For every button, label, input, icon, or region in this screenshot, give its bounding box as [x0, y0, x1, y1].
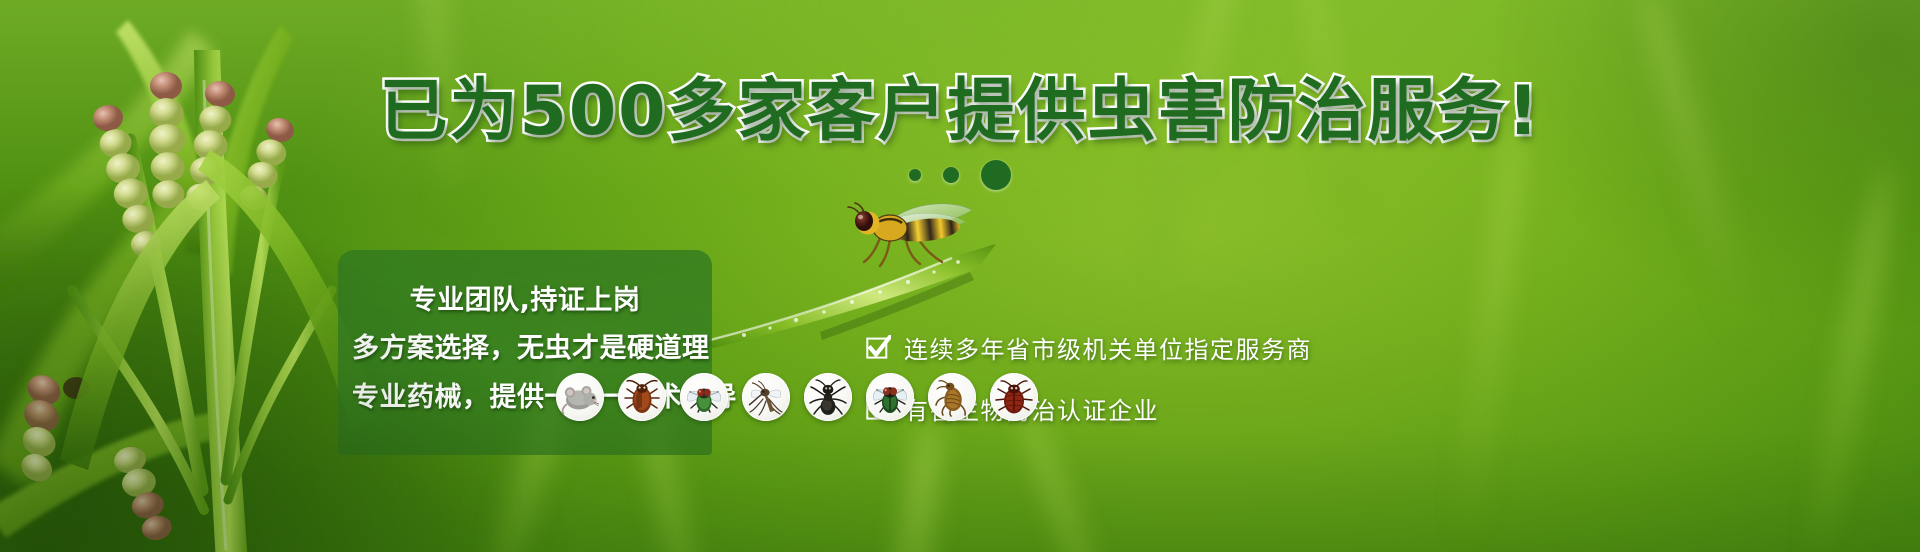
bedbug-icon[interactable]: [990, 373, 1038, 421]
dot-large-icon: [981, 160, 1011, 190]
flea-icon[interactable]: [928, 373, 976, 421]
promo-banner: 已为500多家客户提供虫害防治服务! 专业团队,持证上岗 多方案选择，无虫才是硬…: [0, 0, 1920, 552]
selling-point-2: 多方案选择，无虫才是硬道理: [352, 335, 698, 363]
checkbox-checked-icon: [866, 335, 891, 360]
page-title: 已为500多家客户提供虫害防治服务!: [0, 78, 1920, 146]
dot-small-icon: [909, 169, 921, 181]
cockroach-icon[interactable]: [618, 373, 666, 421]
mosquito-icon[interactable]: [742, 373, 790, 421]
hoverfly-icon: [828, 196, 978, 268]
selling-points-panel: 专业团队,持证上岗 多方案选择，无虫才是硬道理 专业药械，提供一对一技术指导: [338, 250, 712, 455]
selling-point-1: 专业团队,持证上岗: [352, 287, 698, 315]
housefly-icon[interactable]: [866, 373, 914, 421]
credential-label: 连续多年省市级机关单位指定服务商: [904, 330, 1312, 365]
pest-types-strip: [556, 373, 1038, 421]
mouse-icon[interactable]: [556, 373, 604, 421]
dot-medium-icon: [943, 167, 959, 183]
ant-icon[interactable]: [804, 373, 852, 421]
fly-icon[interactable]: [680, 373, 728, 421]
decorative-dots: [0, 160, 1920, 190]
list-item: 连续多年省市级机关单位指定服务商: [866, 330, 1312, 365]
